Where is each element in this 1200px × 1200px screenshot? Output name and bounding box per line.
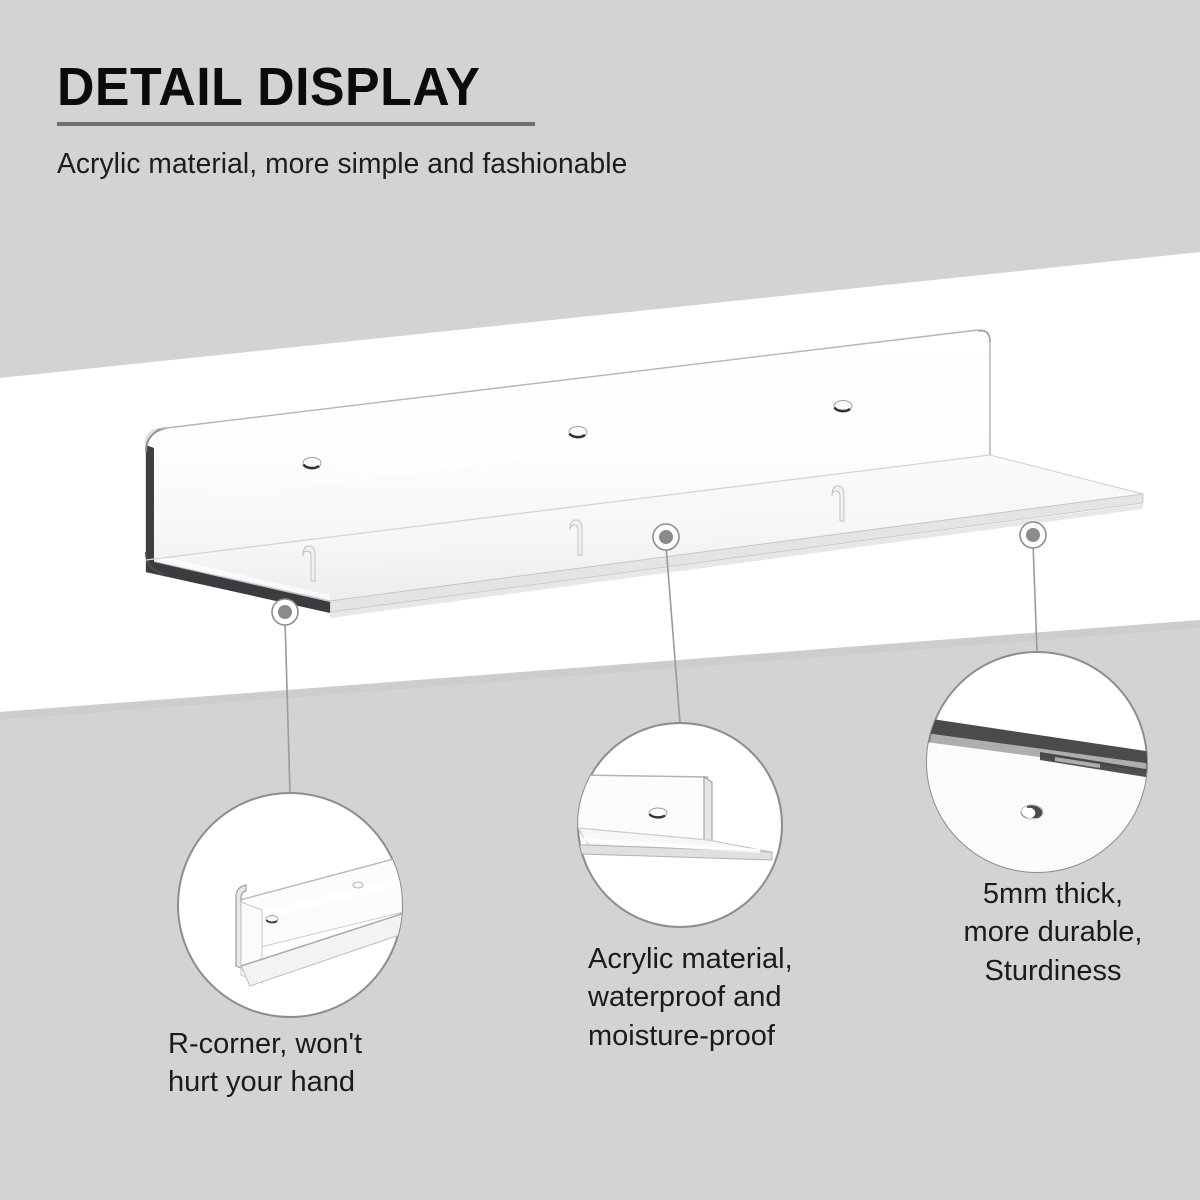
header-block: DETAIL DISPLAY Acrylic material, more si… bbox=[57, 60, 757, 181]
callout-caption-thickness: 5mm thick, more durable, Sturdiness bbox=[928, 875, 1178, 990]
callout-caption-r-corner: R-corner, won't hurt your hand bbox=[168, 1025, 498, 1102]
page-title: DETAIL DISPLAY bbox=[57, 60, 729, 114]
title-underline bbox=[57, 122, 535, 126]
callout-caption-waterproof: Acrylic material, waterproof and moistur… bbox=[588, 940, 888, 1055]
page-subtitle: Acrylic material, more simple and fashio… bbox=[57, 148, 736, 181]
infographic-page: DETAIL DISPLAY Acrylic material, more si… bbox=[0, 0, 1200, 1200]
